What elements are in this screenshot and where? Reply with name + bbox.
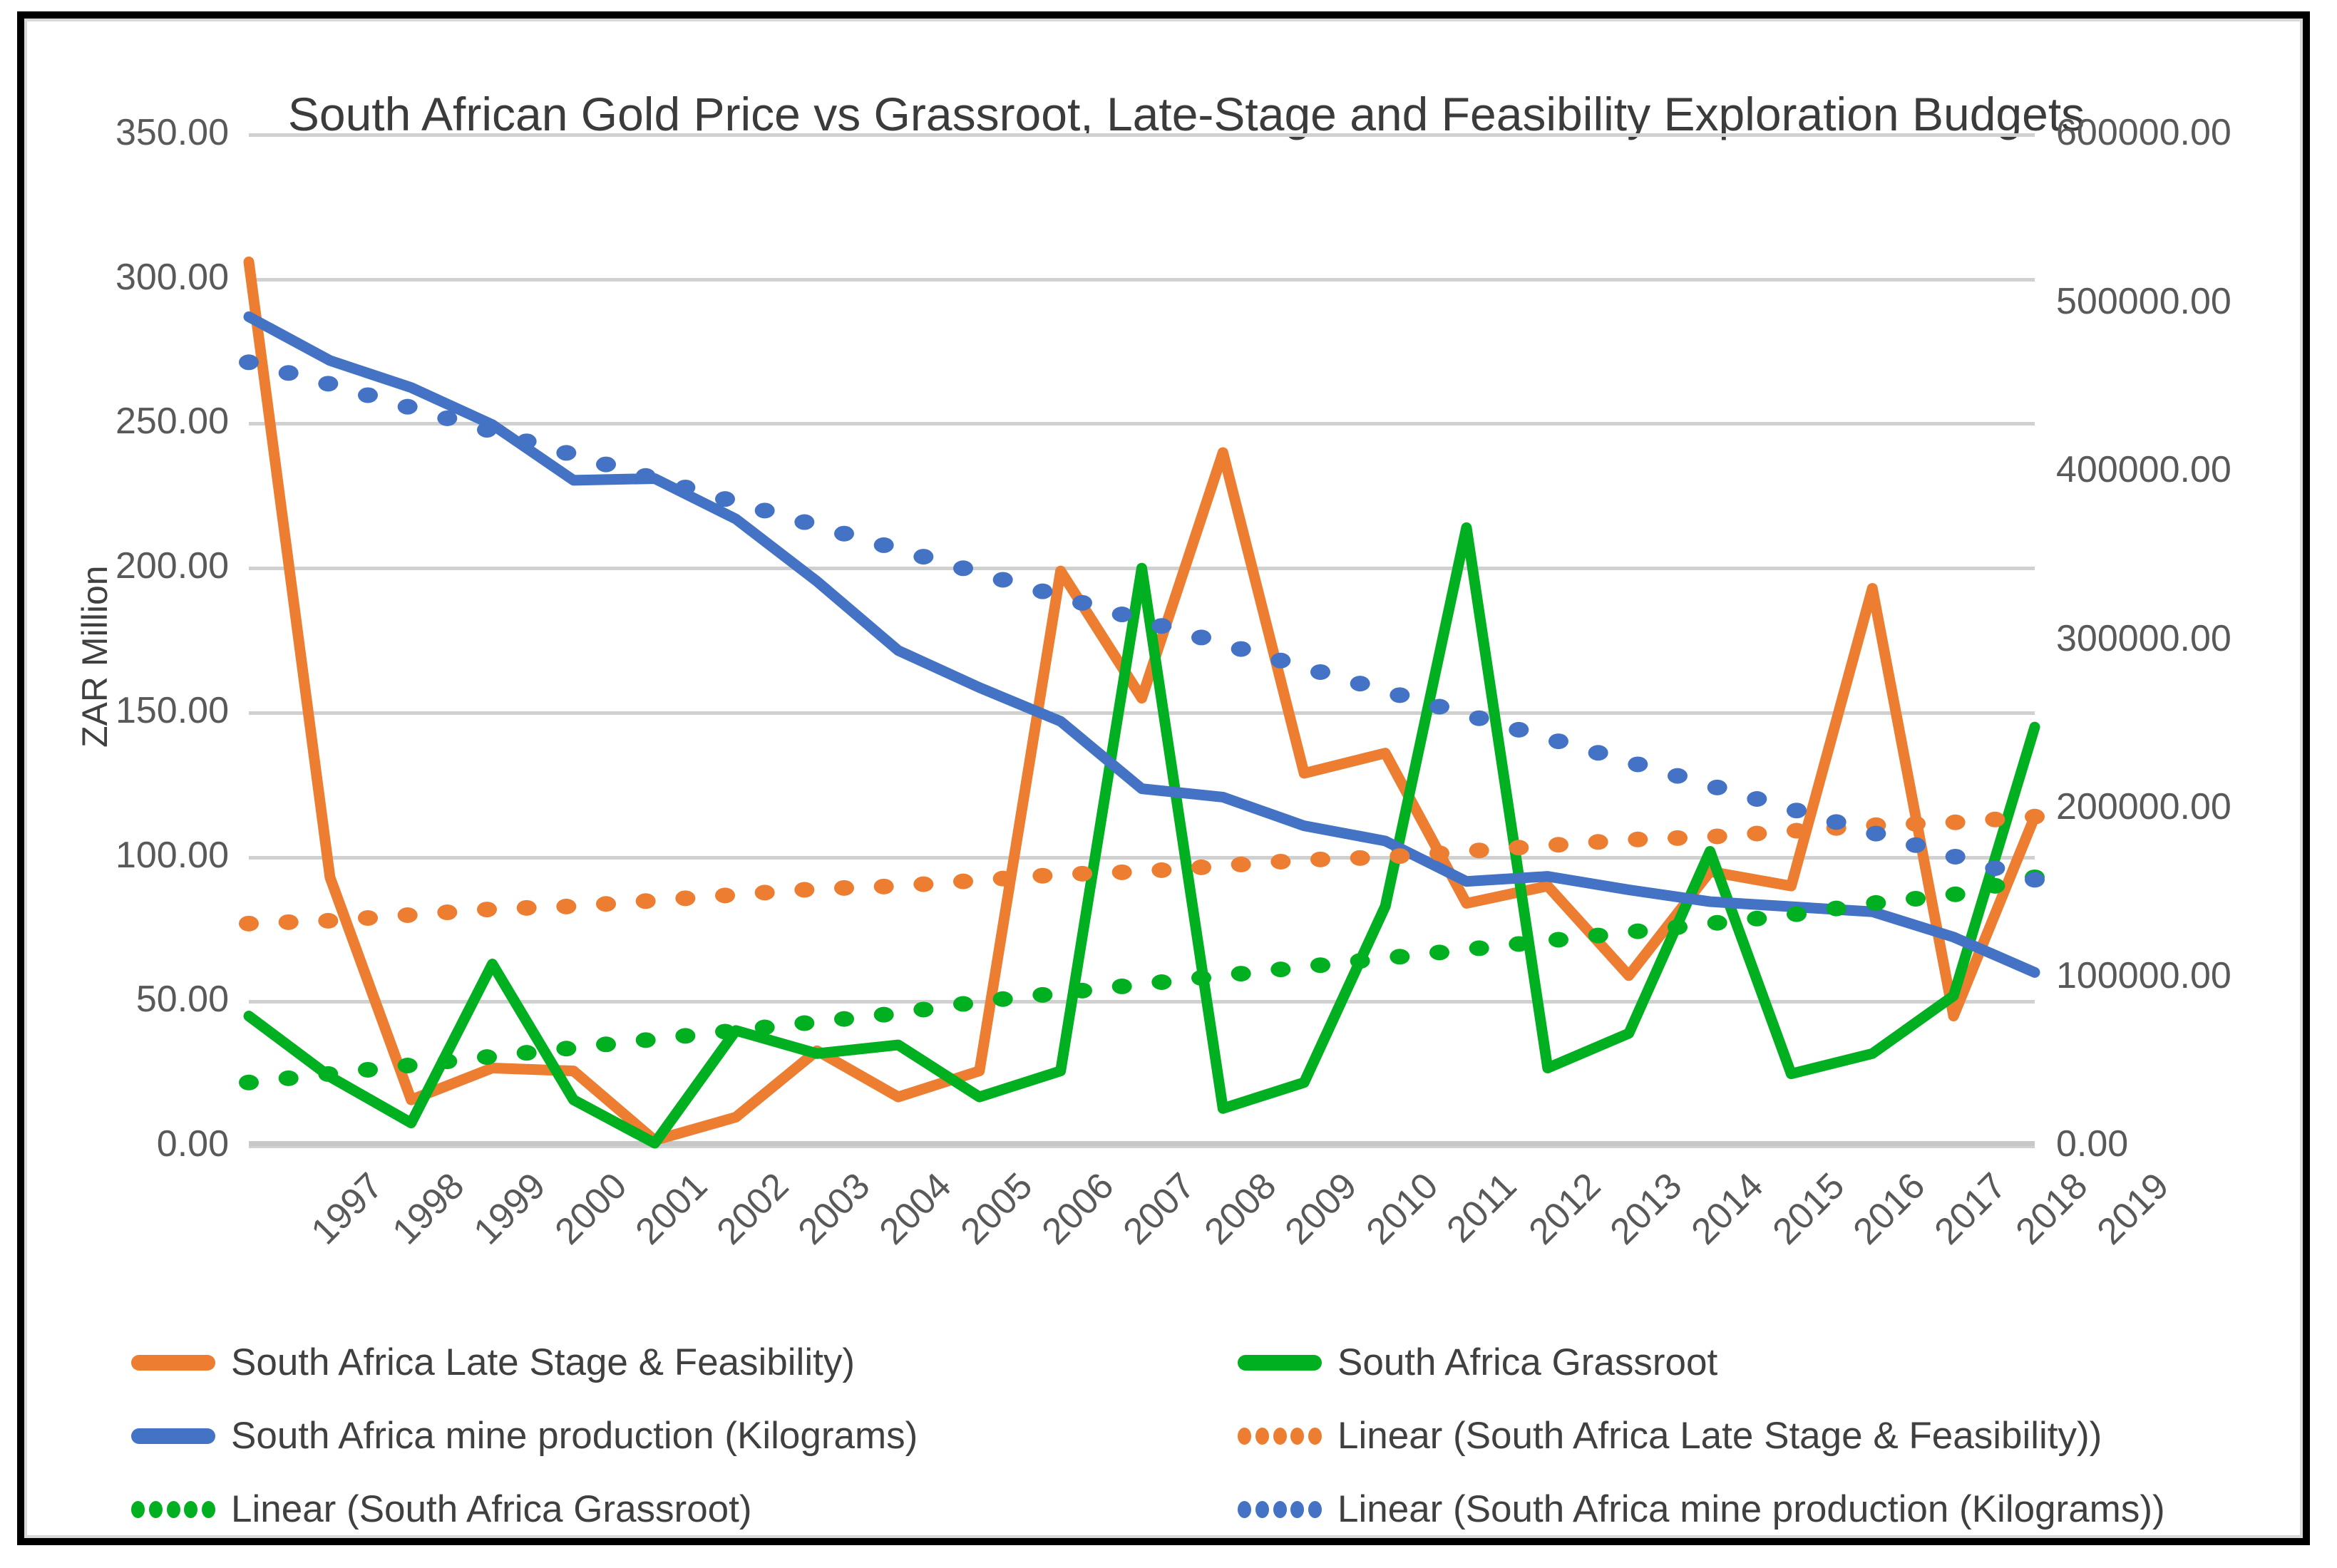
legend-label: Linear (South Africa Late Stage & Feasib…: [1337, 1414, 2102, 1458]
legend-item[interactable]: South Africa Late Stage & Feasibility): [131, 1341, 1186, 1384]
y-axis-left-tick-label: 0.00: [24, 1123, 229, 1165]
legend-row: South Africa Late Stage & Feasibility)So…: [131, 1341, 2241, 1384]
y-axis-left-tick-label: 350.00: [24, 111, 229, 154]
y-axis-right-tick-label: 100000.00: [2056, 954, 2231, 997]
legend-swatch-solid: [131, 1355, 215, 1371]
y-axis-left-tick-label: 300.00: [24, 256, 229, 299]
y-axis-right-tick-label: 200000.00: [2056, 785, 2231, 828]
y-axis-left-tick-label: 200.00: [24, 545, 229, 587]
y-axis-right-tick-label: 500000.00: [2056, 280, 2231, 323]
y-axis-left-tick-label: 150.00: [24, 689, 229, 732]
legend-swatch-dotted: [1238, 1501, 1322, 1518]
y-axis-left-tick-label: 100.00: [24, 834, 229, 877]
legend-item[interactable]: Linear (South Africa Late Stage & Feasib…: [1186, 1414, 2241, 1458]
trendline-dots: [239, 809, 2045, 932]
legend-swatch-solid: [1238, 1355, 1322, 1371]
plot-area: [249, 135, 2035, 1146]
legend-item[interactable]: Linear (South Africa mine production (Ki…: [1186, 1487, 2241, 1531]
legend-label: Linear (South Africa Grassroot): [231, 1487, 752, 1531]
chart-root: South African Gold Price vs Grassroot, L…: [0, 0, 2337, 1568]
y-axis-right-tick-label: 300000.00: [2056, 617, 2231, 660]
y-axis-left-tick-label: 50.00: [24, 978, 229, 1021]
legend-label: Linear (South Africa mine production (Ki…: [1337, 1487, 2165, 1531]
chart-frame: South African Gold Price vs Grassroot, L…: [17, 11, 2310, 1545]
legend-swatch-dotted: [1238, 1428, 1322, 1445]
legend-label: South Africa Late Stage & Feasibility): [231, 1341, 855, 1384]
series-line: [249, 527, 2035, 1143]
legend-item[interactable]: South Africa mine production (Kilograms): [131, 1414, 1186, 1458]
chart-legend: South Africa Late Stage & Feasibility)So…: [131, 1341, 2241, 1561]
legend-row: Linear (South Africa Grassroot)Linear (S…: [131, 1487, 2241, 1531]
legend-swatch-dotted: [131, 1501, 215, 1518]
legend-row: South Africa mine production (Kilograms)…: [131, 1414, 2241, 1458]
legend-label: South Africa Grassroot: [1337, 1341, 1717, 1384]
series-lines: [249, 135, 2035, 1146]
y-axis-left-tick-label: 250.00: [24, 400, 229, 443]
legend-swatch-solid: [131, 1428, 215, 1444]
y-axis-right-tick-label: 400000.00: [2056, 448, 2231, 491]
legend-item[interactable]: South Africa Grassroot: [1186, 1341, 2241, 1384]
legend-item[interactable]: Linear (South Africa Grassroot): [131, 1487, 1186, 1531]
y-axis-right-tick-label: 0.00: [2056, 1123, 2128, 1165]
series-line: [249, 316, 2035, 972]
legend-label: South Africa mine production (Kilograms): [231, 1414, 918, 1458]
y-axis-right-tick-label: 600000.00: [2056, 111, 2231, 154]
